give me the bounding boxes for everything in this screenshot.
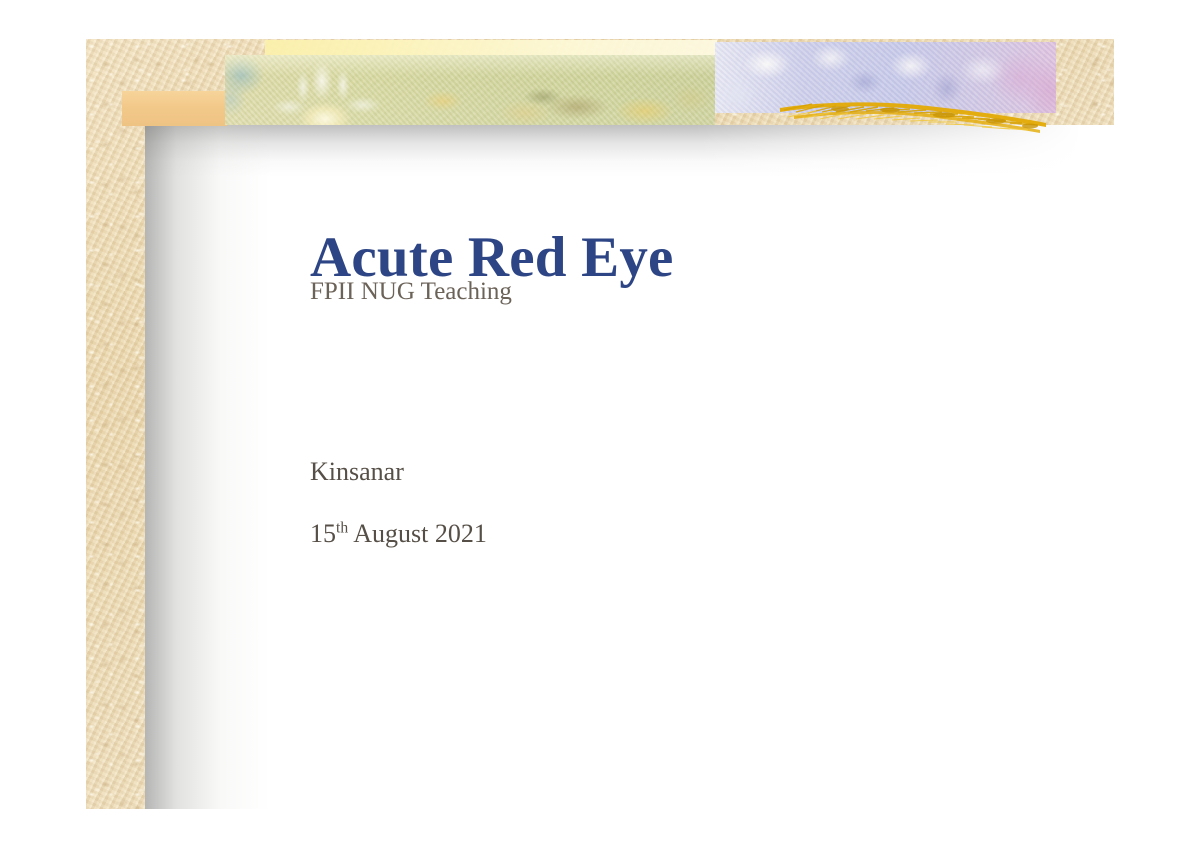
sand-texture-left-column <box>86 39 145 809</box>
sunflower-foliage-band <box>225 55 715 125</box>
left-border-shadow <box>145 125 270 809</box>
slide-subtitle: FPII NUG Teaching <box>310 277 512 307</box>
date-day: 15 <box>310 519 336 548</box>
lavender-hydrangea-band <box>715 42 1056 113</box>
pale-yellow-band <box>265 40 717 58</box>
sand-texture-top-band <box>86 39 1114 125</box>
banner-shadow <box>145 125 1115 177</box>
gold-accent-bar <box>122 91 227 126</box>
presentation-date: 15th August 2021 <box>310 518 487 549</box>
presentation-title-slide: Acute Red Eye FPII NUG Teaching Kinsanar… <box>0 0 1200 849</box>
presenter-name: Kinsanar <box>310 456 404 487</box>
date-month-year: August 2021 <box>348 519 487 548</box>
slide-decoration <box>0 0 1200 260</box>
date-ordinal-suffix: th <box>336 519 348 536</box>
golden-wheat-strands <box>778 90 1050 134</box>
